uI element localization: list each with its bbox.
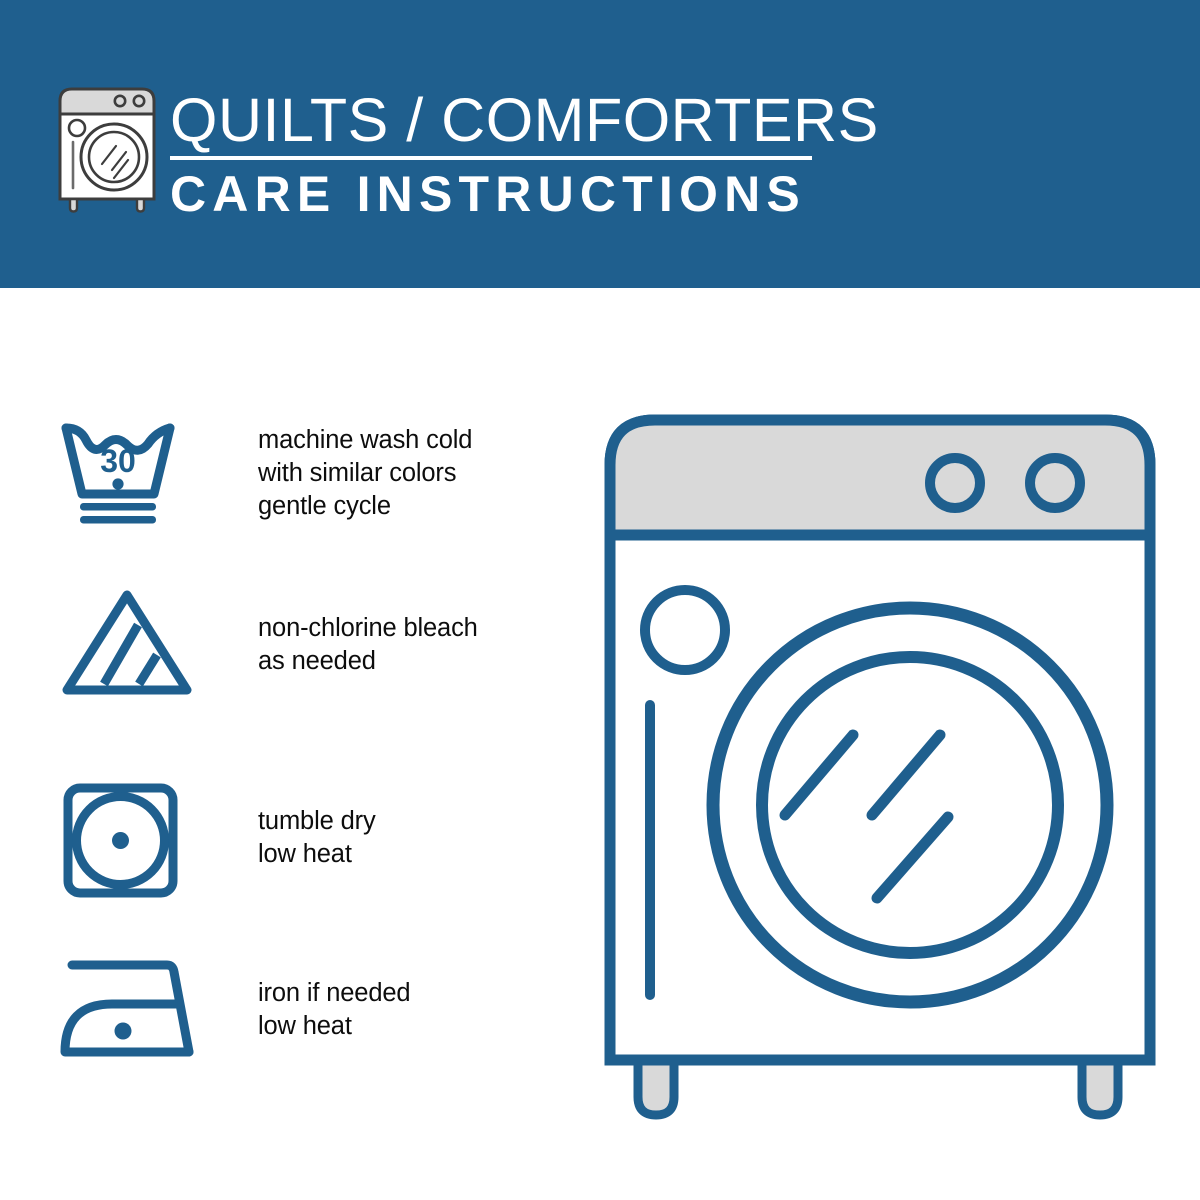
care-instructions-infographic: QUILTS / COMFORTERS CARE INSTRUCTIONS 30: [0, 0, 1200, 1200]
care-text-line: tumble dry: [258, 805, 376, 838]
wash-tub-30-gentle-icon: 30: [60, 418, 205, 538]
door-inner-ring: [762, 657, 1058, 953]
care-text-line: as needed: [258, 645, 478, 678]
care-item-iron: iron if needed low heat: [60, 952, 540, 1072]
care-item-label: machine wash cold with similar colors ge…: [258, 418, 472, 523]
care-item-bleach: non-chlorine bleach as needed: [60, 585, 540, 705]
iron-low-heat-icon: [60, 952, 205, 1072]
care-item-tumble-dry: tumble dry low heat: [60, 783, 540, 903]
care-text-line: low heat: [258, 1010, 410, 1043]
care-text-line: gentle cycle: [258, 490, 472, 523]
care-text-line: machine wash cold: [258, 424, 472, 457]
care-symbol-list: 30 machine wash cold with similar colors…: [0, 0, 560, 1200]
care-text-line: non-chlorine bleach: [258, 612, 478, 645]
care-text-line: low heat: [258, 838, 376, 871]
care-item-label: non-chlorine bleach as needed: [258, 585, 478, 678]
tumble-dry-low-heat-icon: [60, 783, 205, 903]
front-load-washing-machine-illustration: [600, 405, 1160, 1125]
gentle-cycle-bar-1: [80, 503, 156, 511]
care-text-line: iron if needed: [258, 977, 410, 1010]
control-knob-left: [930, 458, 980, 508]
gentle-cycle-bar-2: [80, 516, 156, 524]
care-text-line: with similar colors: [258, 457, 472, 490]
wash-temperature-label: 30: [100, 443, 136, 479]
control-knob-right: [1030, 458, 1080, 508]
wash-temperature-dot: [112, 478, 123, 489]
iron-heat-dot: [115, 1023, 132, 1040]
care-item-label: tumble dry low heat: [258, 783, 376, 871]
dryer-heat-dot: [112, 832, 129, 849]
care-item-machine-wash: 30 machine wash cold with similar colors…: [60, 418, 540, 538]
detergent-indicator-circle: [645, 590, 725, 670]
bleach-triangle-non-chlorine-icon: [60, 585, 205, 705]
care-item-label: iron if needed low heat: [258, 952, 410, 1043]
